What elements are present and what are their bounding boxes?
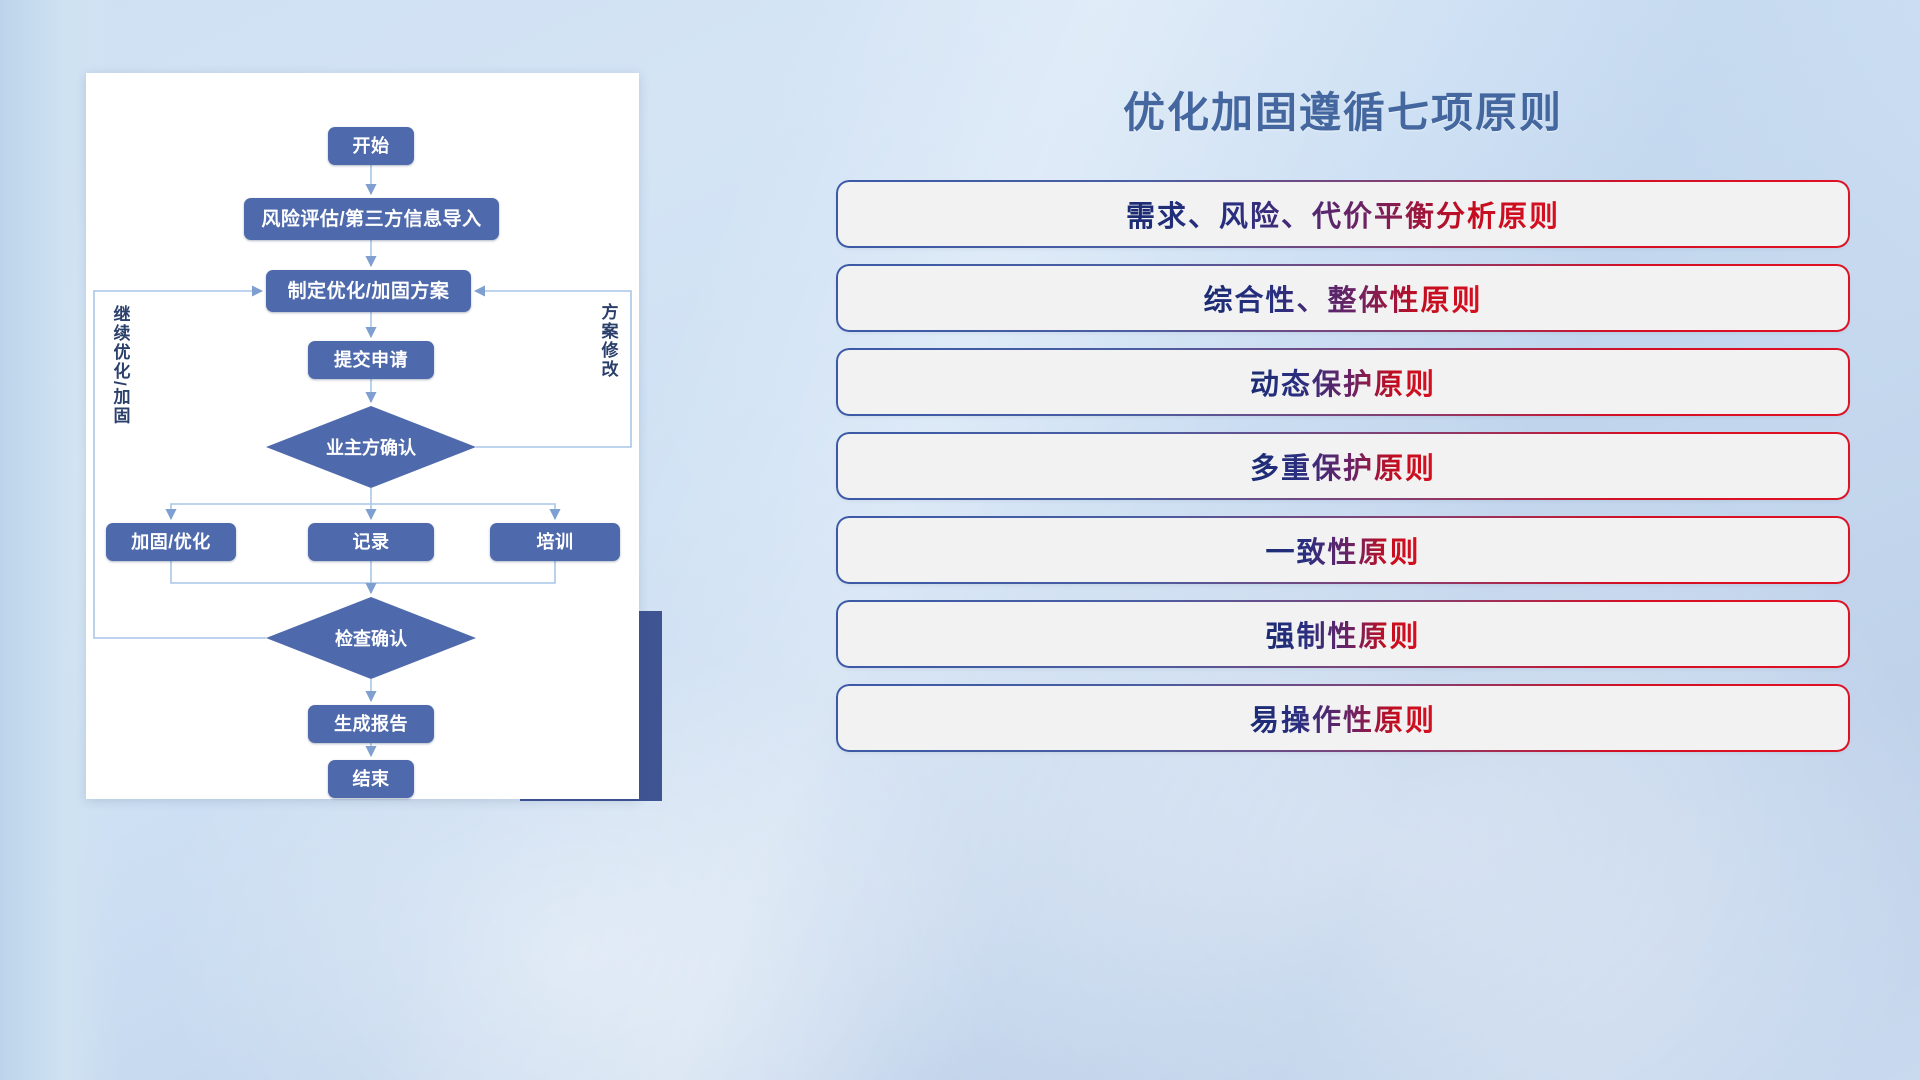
flowchart-section: 开始 风险评估/第三方信息导入 制定优化/加固方案 提交申请 业主方确认 加固/… bbox=[86, 73, 746, 843]
principle-card[interactable]: 综合性、整体性原则 bbox=[838, 266, 1848, 330]
principles-card-list: 需求、风险、代价平衡分析原则 综合性、整体性原则 动态保护原则 多重保护原则 一… bbox=[838, 182, 1848, 750]
flow-node-make-plan[interactable]: 制定优化/加固方案 bbox=[266, 270, 471, 312]
principle-label: 强制性原则 bbox=[1265, 613, 1420, 655]
flow-node-training[interactable]: 培训 bbox=[490, 523, 620, 561]
principle-card[interactable]: 多重保护原则 bbox=[838, 434, 1848, 498]
principles-section: 优化加固遵循七项原则 需求、风险、代价平衡分析原则 综合性、整体性原则 动态保护… bbox=[838, 78, 1848, 978]
flow-node-start[interactable]: 开始 bbox=[328, 127, 414, 165]
flow-node-report[interactable]: 生成报告 bbox=[308, 705, 434, 743]
principle-label: 易操作性原则 bbox=[1250, 697, 1436, 739]
flowchart-card: 开始 风险评估/第三方信息导入 制定优化/加固方案 提交申请 业主方确认 加固/… bbox=[86, 73, 639, 799]
principle-label: 多重保护原则 bbox=[1250, 445, 1436, 487]
principle-card[interactable]: 易操作性原则 bbox=[838, 686, 1848, 750]
principle-card[interactable]: 一致性原则 bbox=[838, 518, 1848, 582]
principle-label: 综合性、整体性原则 bbox=[1203, 277, 1482, 319]
principle-label: 需求、风险、代价平衡分析原则 bbox=[1126, 193, 1560, 235]
principle-card[interactable]: 强制性原则 bbox=[838, 602, 1848, 666]
flow-node-reinforce[interactable]: 加固/优化 bbox=[106, 523, 236, 561]
principles-title: 优化加固遵循七项原则 bbox=[1023, 78, 1663, 136]
flow-node-submit[interactable]: 提交申请 bbox=[308, 341, 434, 379]
principle-label: 动态保护原则 bbox=[1250, 361, 1436, 403]
flow-node-record[interactable]: 记录 bbox=[308, 523, 434, 561]
flow-node-risk-assessment[interactable]: 风险评估/第三方信息导入 bbox=[244, 198, 499, 240]
principle-card[interactable]: 动态保护原则 bbox=[838, 350, 1848, 414]
principle-card[interactable]: 需求、风险、代价平衡分析原则 bbox=[838, 182, 1848, 246]
flow-edge-label-left: 继续优化/加固 bbox=[110, 305, 130, 426]
flow-edge-label-right: 方案修改 bbox=[598, 303, 618, 379]
principle-label: 一致性原则 bbox=[1265, 529, 1420, 571]
flow-node-end[interactable]: 结束 bbox=[328, 760, 414, 798]
